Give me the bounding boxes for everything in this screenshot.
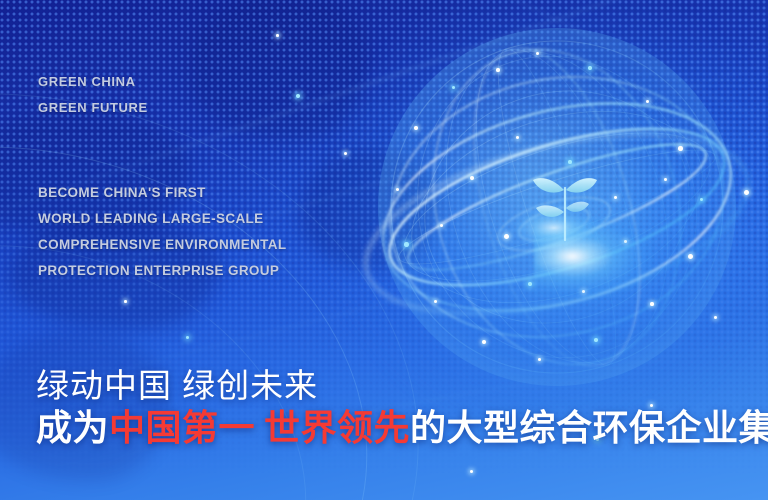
tagline-line-1: GREEN CHINA	[38, 69, 148, 95]
headline-chinese: 绿动中国 绿创未来 成为中国第一世界领先的大型综合环保企业集团	[36, 366, 768, 450]
mission-line-2: WORLD LEADING LARGE-SCALE	[38, 206, 286, 232]
headline-line-2: 成为中国第一世界领先的大型综合环保企业集团	[36, 406, 768, 450]
tagline-line-2: GREEN FUTURE	[38, 95, 148, 121]
headline-highlight-world-leading: 世界领先	[264, 407, 410, 448]
mission-line-3: COMPREHENSIVE ENVIRONMENTAL	[38, 232, 286, 258]
headline-highlight-china-first: 中国第一	[109, 407, 255, 448]
tagline-english: GREEN CHINA GREEN FUTURE	[38, 69, 148, 121]
mission-line-1: BECOME CHINA'S FIRST	[38, 180, 286, 206]
mission-statement-english: BECOME CHINA'S FIRST WORLD LEADING LARGE…	[38, 180, 286, 284]
headline-suffix: 的大型综合环保企业集团	[410, 407, 768, 448]
hero-banner: GREEN CHINA GREEN FUTURE BECOME CHINA'S …	[0, 0, 768, 500]
green-sprout-icon	[520, 160, 610, 250]
headline-prefix: 成为	[36, 407, 109, 448]
headline-line-1: 绿动中国 绿创未来	[36, 366, 768, 406]
mission-line-4: PROTECTION ENTERPRISE GROUP	[38, 258, 286, 284]
